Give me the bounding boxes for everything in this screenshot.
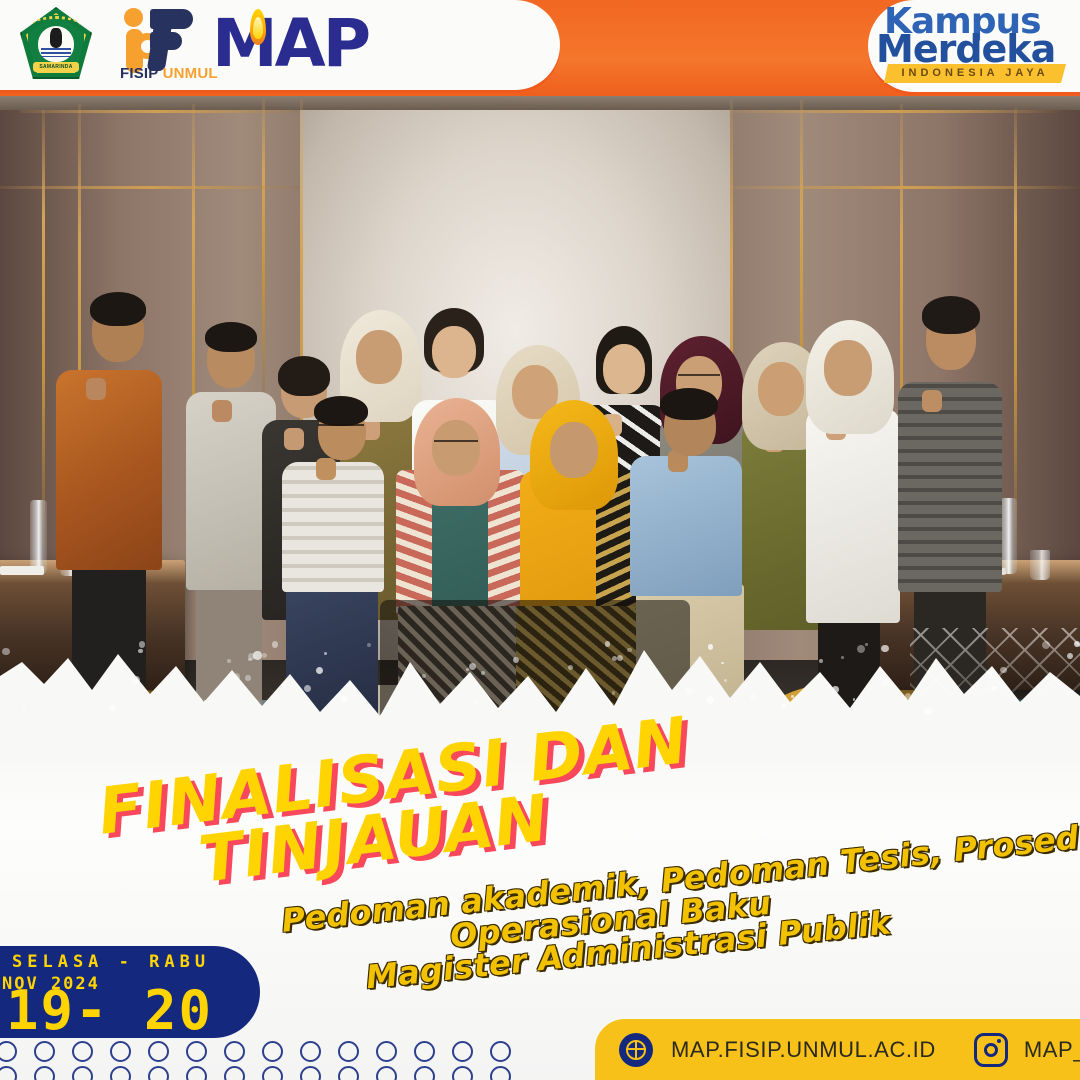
grid-dot	[338, 1041, 359, 1062]
grid-dot	[34, 1041, 55, 1062]
header-right-logo: Kampus Merdeka INDONESIA JAYA	[876, 2, 1076, 84]
header-left-logos: SAMARINDA FISIP UNMUL MAP	[16, 4, 404, 84]
date-day-numbers: 19- 20	[6, 984, 213, 1038]
globe-icon	[619, 1033, 653, 1067]
gold-trim	[730, 186, 1080, 189]
diamond-lattice-pattern	[910, 628, 1080, 712]
paper-speckle	[245, 675, 251, 681]
gold-trim	[730, 110, 1060, 113]
paper-speckle	[266, 708, 268, 710]
grid-dot	[376, 1066, 397, 1080]
gold-trim	[0, 186, 300, 189]
instagram-icon	[974, 1033, 1008, 1067]
map-wordmark: MAP	[212, 7, 368, 81]
fisip-dot-icon	[124, 8, 143, 27]
grid-dot	[262, 1066, 283, 1080]
paper-speckle	[469, 663, 476, 670]
grid-dot	[414, 1066, 435, 1080]
date-day-of-week: SELASA - RABU	[12, 952, 210, 972]
paper-speckle	[387, 705, 389, 707]
grid-dot	[452, 1066, 473, 1080]
paper-speckle	[832, 686, 838, 692]
grid-dot	[148, 1066, 169, 1080]
paper-speckle	[853, 698, 856, 701]
paper-speckle	[474, 700, 479, 705]
paper-speckle	[233, 673, 240, 680]
grid-dot	[148, 1041, 169, 1062]
paper-speckle	[513, 657, 519, 663]
fisip-unmul-wordmark: FISIP UNMUL	[120, 65, 218, 82]
paper-sheet	[0, 566, 44, 575]
water-bottle	[30, 500, 47, 574]
paper-speckle	[103, 694, 107, 698]
grid-dot	[452, 1041, 473, 1062]
drinking-glass	[1030, 550, 1050, 580]
paper-speckle	[481, 671, 485, 675]
kampus-merdeka-tagline-band: INDONESIA JAYA	[884, 64, 1066, 83]
grid-dot	[300, 1066, 321, 1080]
grid-dot	[490, 1066, 511, 1080]
grid-dot	[224, 1066, 245, 1080]
crest-figure-icon	[50, 28, 62, 48]
fisip-f-top-bar	[150, 9, 193, 29]
grid-dot	[110, 1041, 131, 1062]
paper-speckle	[791, 695, 794, 698]
paper-speckle	[474, 682, 477, 685]
flame-inner-icon	[253, 17, 263, 39]
grid-dot	[490, 1041, 511, 1062]
grid-dot	[338, 1066, 359, 1080]
paper-speckle	[857, 645, 865, 653]
paper-speckle	[988, 672, 993, 677]
grid-dot	[110, 1066, 131, 1080]
paper-speckle	[841, 656, 844, 659]
grid-dot	[72, 1066, 93, 1080]
paper-speckle	[1067, 653, 1073, 659]
grid-dot	[0, 1066, 17, 1080]
paper-speckle	[612, 691, 615, 694]
paper-speckle	[22, 705, 26, 709]
paper-speckle	[881, 645, 888, 652]
fisip-unmul-logo: FISIP UNMUL	[114, 5, 200, 83]
eyeglasses	[434, 440, 478, 447]
unmul-crest-logo: SAMARINDA	[16, 4, 96, 84]
fisip-word: FISIP	[120, 65, 163, 82]
paper-speckle	[138, 649, 143, 654]
paper-speckle	[627, 648, 632, 653]
unmul-word: UNMUL	[163, 65, 218, 82]
grid-dot	[376, 1041, 397, 1062]
paper-speckle	[605, 641, 610, 646]
water-bottle	[1000, 498, 1017, 574]
crest-ribbon-label: SAMARINDA	[33, 62, 79, 72]
paper-speckle	[991, 686, 997, 692]
grid-dot	[34, 1066, 55, 1080]
paper-speckle	[1000, 667, 1006, 673]
gold-trim	[20, 110, 300, 113]
paper-speckle	[341, 695, 348, 702]
kampus-merdeka-tagline: INDONESIA JAYA	[884, 64, 1066, 83]
paper-speckle	[248, 653, 255, 660]
gold-trim	[42, 110, 45, 550]
grid-dot	[414, 1041, 435, 1062]
crest-wave-icon	[41, 48, 71, 57]
paper-speckle	[750, 694, 756, 700]
grid-dot	[0, 1041, 17, 1062]
dot-grid-decoration	[0, 1035, 560, 1080]
paper-speckle	[708, 644, 713, 649]
paper-speckle	[617, 655, 623, 661]
fisip-f-mid-bar	[150, 32, 182, 50]
paper-speckle	[819, 659, 823, 663]
instagram-handle-label[interactable]: MAP_FISIP	[1024, 1037, 1080, 1063]
paper-speckle	[227, 659, 231, 663]
paper-speckle	[721, 662, 723, 664]
map-logo: MAP	[212, 7, 404, 81]
eyeglasses	[318, 424, 364, 431]
paper-speckle	[865, 643, 868, 646]
gold-trim	[1014, 108, 1017, 548]
gold-trim	[262, 100, 265, 400]
eyeglasses	[678, 374, 720, 381]
grid-dot	[300, 1041, 321, 1062]
website-label[interactable]: MAP.FISIP.UNMUL.AC.ID	[671, 1037, 936, 1063]
kampus-merdeka-logo: Kampus Merdeka INDONESIA JAYA	[876, 2, 1076, 84]
event-date-badge: SELASA - RABU NOV 2024 19- 20	[0, 946, 260, 1038]
paper-speckle	[132, 676, 140, 684]
grid-dot	[186, 1041, 207, 1062]
grid-dot	[262, 1041, 283, 1062]
poster-canvas: SAMARINDA FISIP UNMUL MAP Kampus Merdeka	[0, 0, 1080, 1080]
grid-dot	[72, 1041, 93, 1062]
paper-speckle	[612, 656, 617, 661]
grid-dot	[224, 1041, 245, 1062]
paper-speckle	[882, 678, 889, 685]
contact-footer-bar: MAP.FISIP.UNMUL.AC.ID MAP_FISIP	[595, 1019, 1080, 1080]
paper-speckle	[2, 648, 10, 656]
grid-dot	[186, 1066, 207, 1080]
paper-speckle	[204, 700, 207, 703]
